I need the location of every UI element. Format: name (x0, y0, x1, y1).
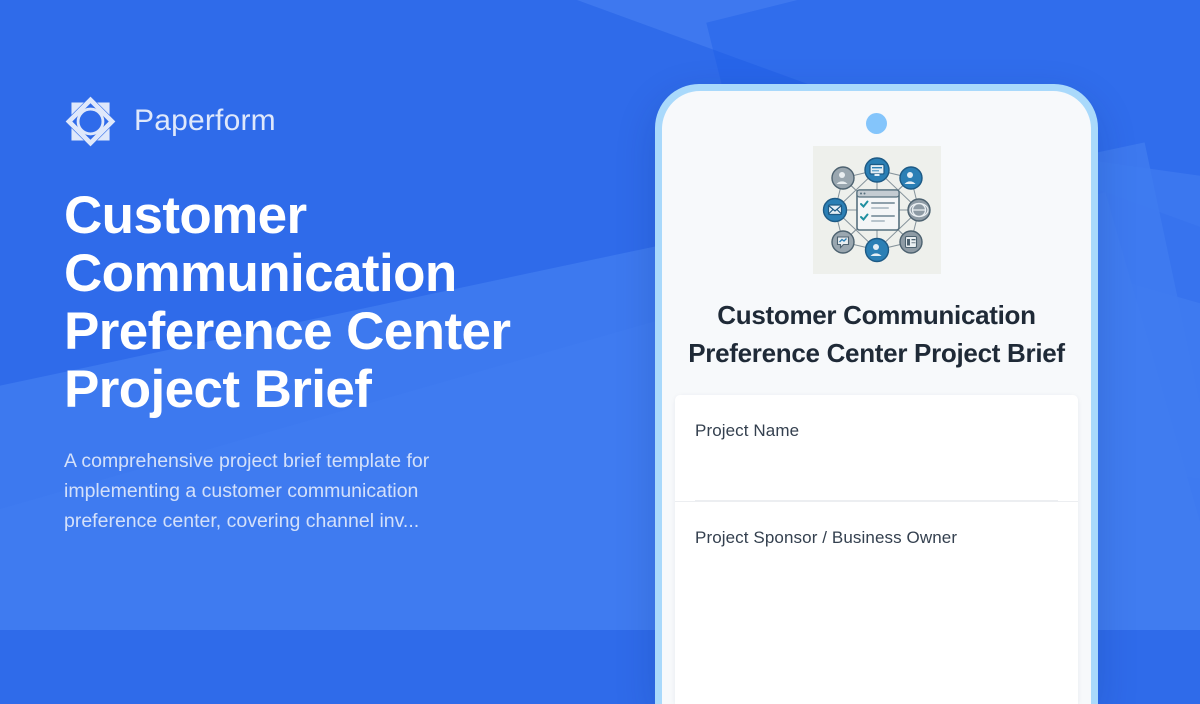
user-profile-icon (865, 239, 888, 262)
document-chart-icon (900, 231, 922, 253)
brand-name: Paperform (134, 104, 276, 138)
hero-content: Paperform Customer Communication Prefere… (64, 0, 604, 630)
chat-bubble-icon (832, 231, 854, 253)
communication-network-illustration (813, 146, 941, 274)
page-title: Customer Communication Preference Center… (64, 187, 534, 419)
form-field-project-name[interactable]: Project Name (675, 395, 1078, 502)
envelope-mail-icon (823, 199, 846, 222)
page-description: A comprehensive project brief template f… (64, 446, 496, 536)
form-field-project-sponsor[interactable]: Project Sponsor / Business Owner (675, 502, 1078, 594)
form-title: Customer Communication Preference Center… (688, 296, 1066, 372)
form-document-window-icon (857, 190, 899, 230)
desktop-monitor-icon (865, 158, 889, 182)
phone-mockup: Customer Communication Preference Center… (655, 84, 1098, 704)
camera-dot-icon (866, 113, 887, 134)
field-label: Project Name (695, 421, 1058, 441)
paperform-diamond-logo-icon (64, 95, 117, 148)
user-profile-icon (900, 167, 922, 189)
user-profile-icon (832, 167, 854, 189)
project-sponsor-input[interactable] (695, 560, 1058, 594)
field-label: Project Sponsor / Business Owner (695, 528, 1058, 548)
form-card: Project Name Project Sponsor / Business … (675, 395, 1078, 704)
project-name-input[interactable] (695, 453, 1058, 501)
globe-network-icon (908, 199, 930, 221)
brand-logo[interactable]: Paperform (64, 95, 604, 148)
phone-screen: Customer Communication Preference Center… (662, 91, 1091, 704)
